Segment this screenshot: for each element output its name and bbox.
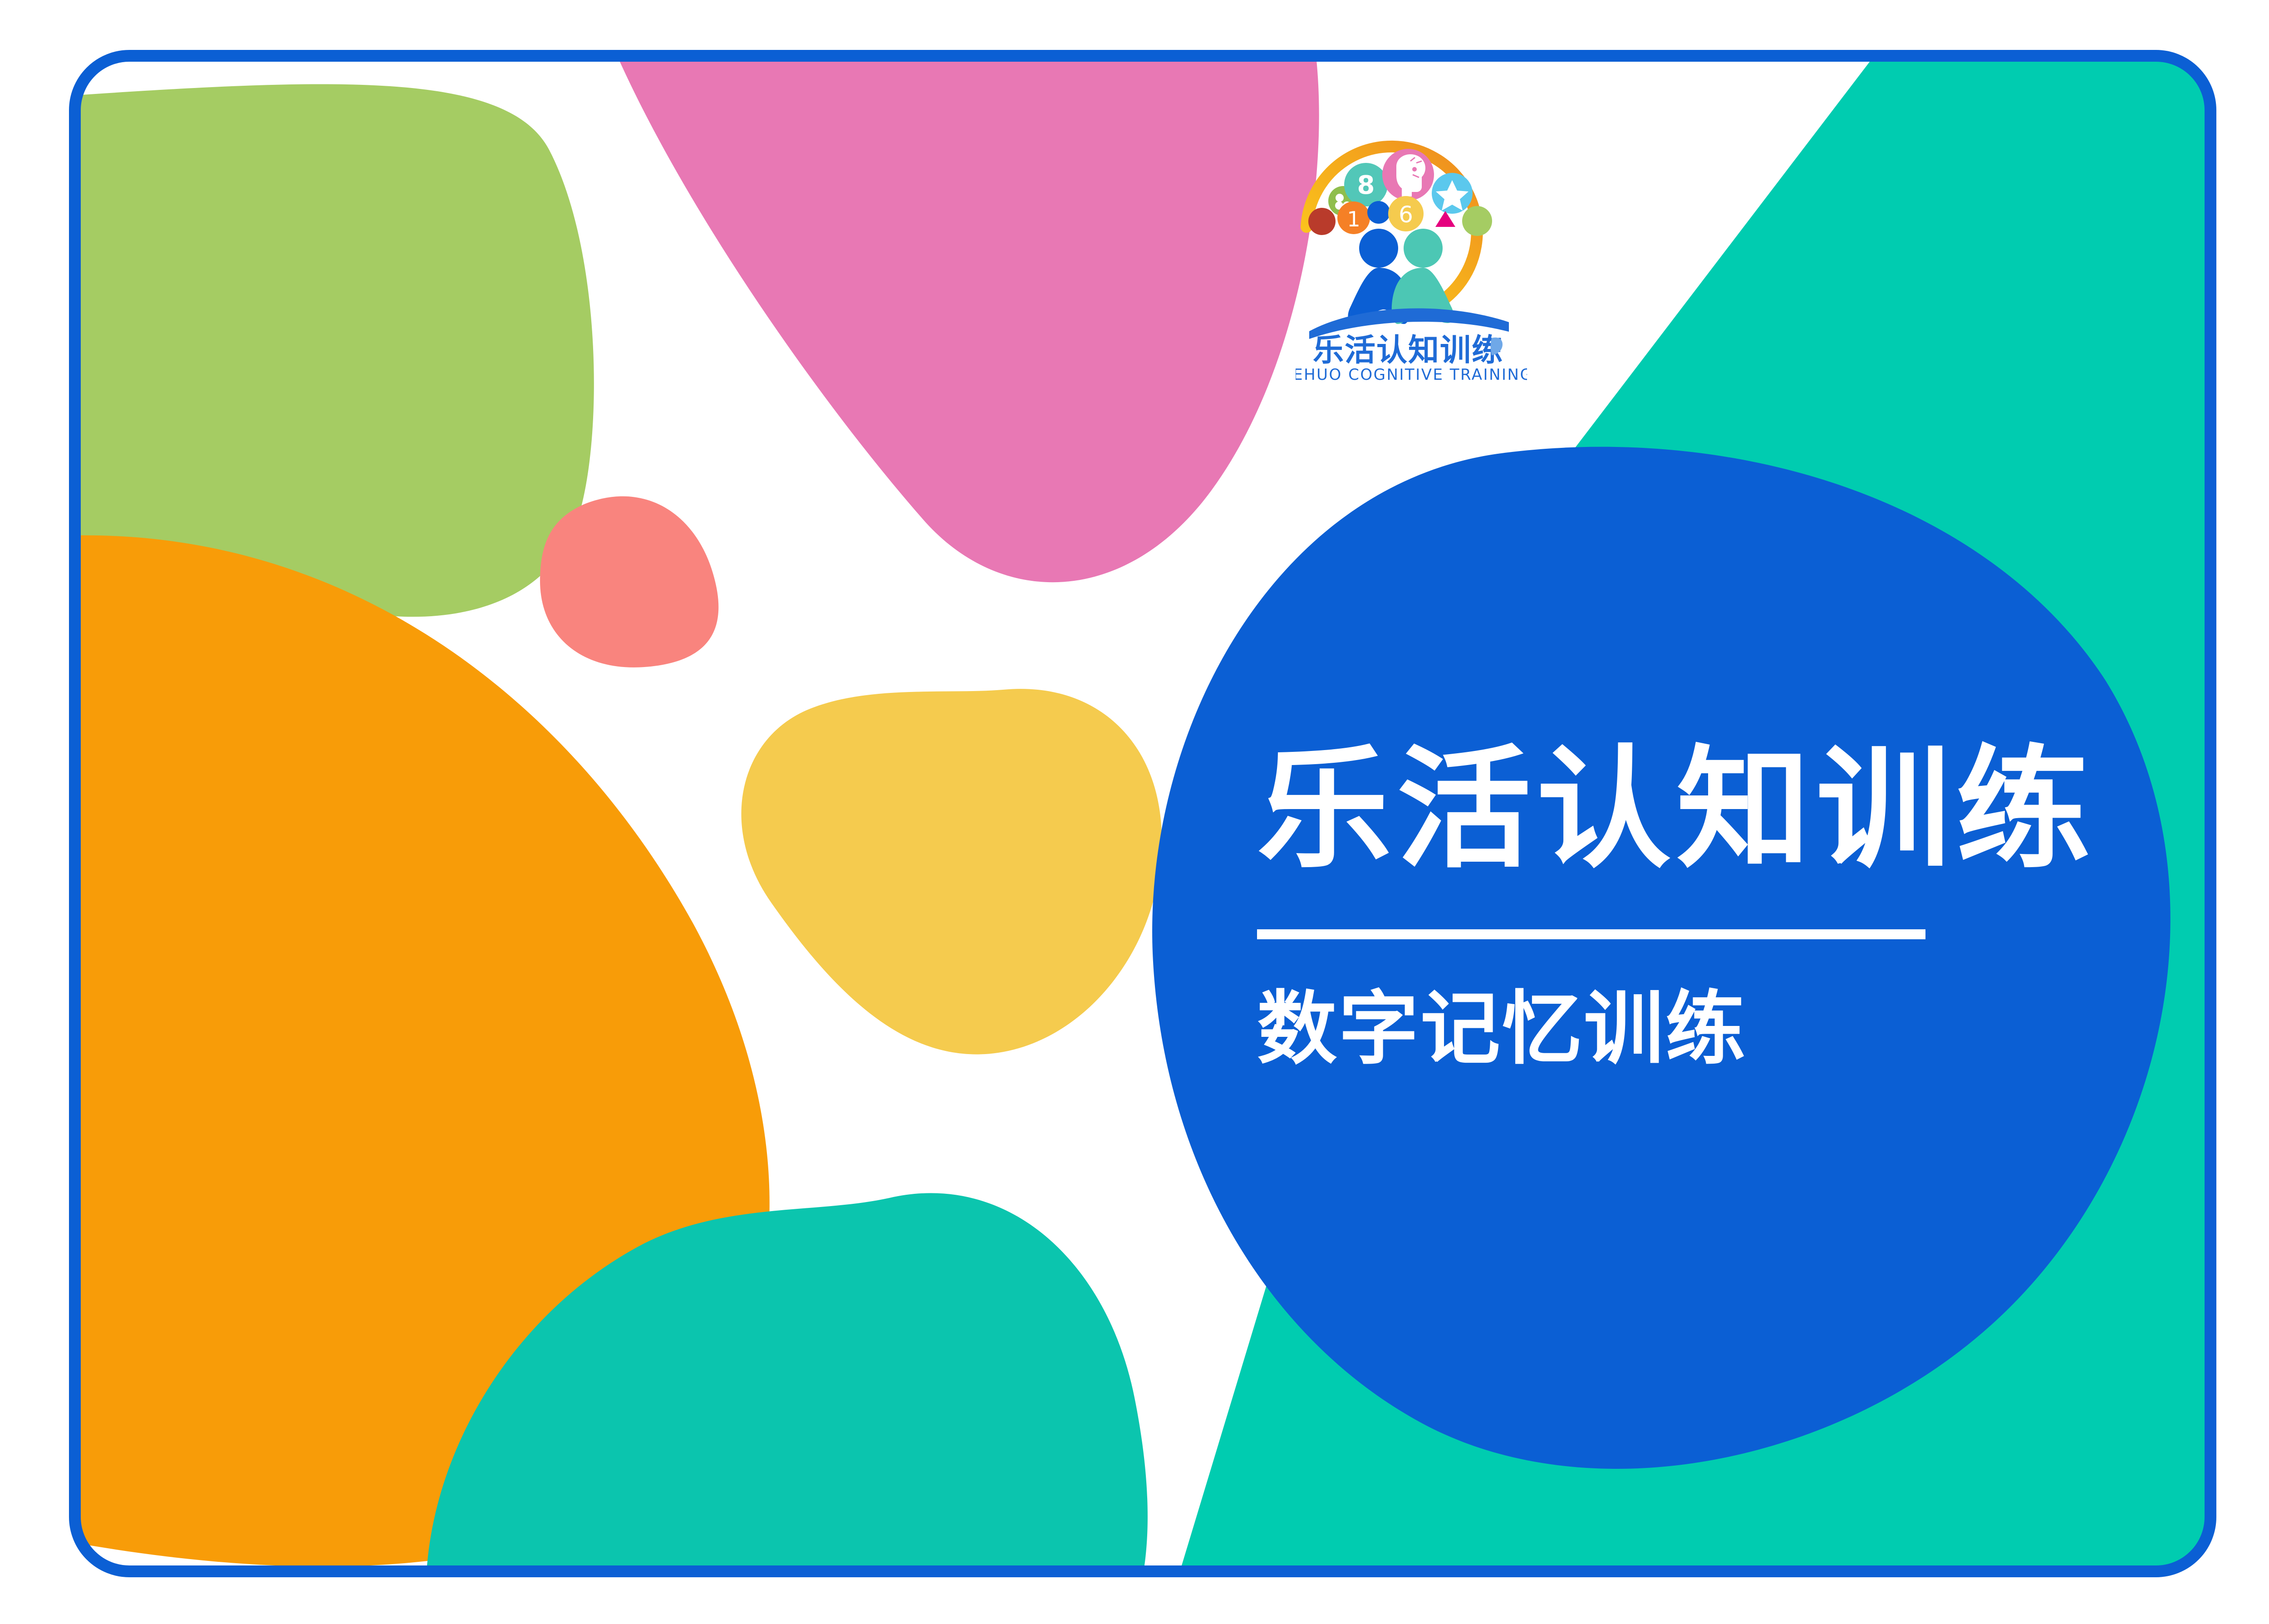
cover-slide: 8 1 6 (0, 0, 2269, 1624)
one-badge-label: 1 (1347, 207, 1360, 231)
eight-badge-label: 8 (1357, 171, 1375, 200)
logo-brand-cn: 乐活认知训练 (1313, 333, 1503, 368)
page-title: 乐活认知训练 (1257, 744, 2044, 876)
logo-artwork: 8 1 6 (1296, 129, 1527, 383)
clover-petal-icon (1336, 194, 1344, 202)
logo-brand-en: LEHUO COGNITIVE TRAINING (1296, 366, 1527, 383)
hero-text-block: 乐活认知训练 数字记忆训练 (1257, 744, 2028, 1069)
artboard: 8 1 6 (0, 0, 2269, 1624)
dot-blue-icon (1367, 201, 1390, 224)
title-divider (1257, 929, 1925, 939)
brand-logo: 8 1 6 (1296, 129, 1527, 383)
six-badge-label: 6 (1399, 201, 1413, 228)
green-blob (75, 84, 594, 617)
page-subtitle: 数字记忆训练 (1257, 989, 2028, 1069)
dot-darkred-icon (1308, 208, 1336, 235)
dot-green-icon (1462, 206, 1492, 236)
